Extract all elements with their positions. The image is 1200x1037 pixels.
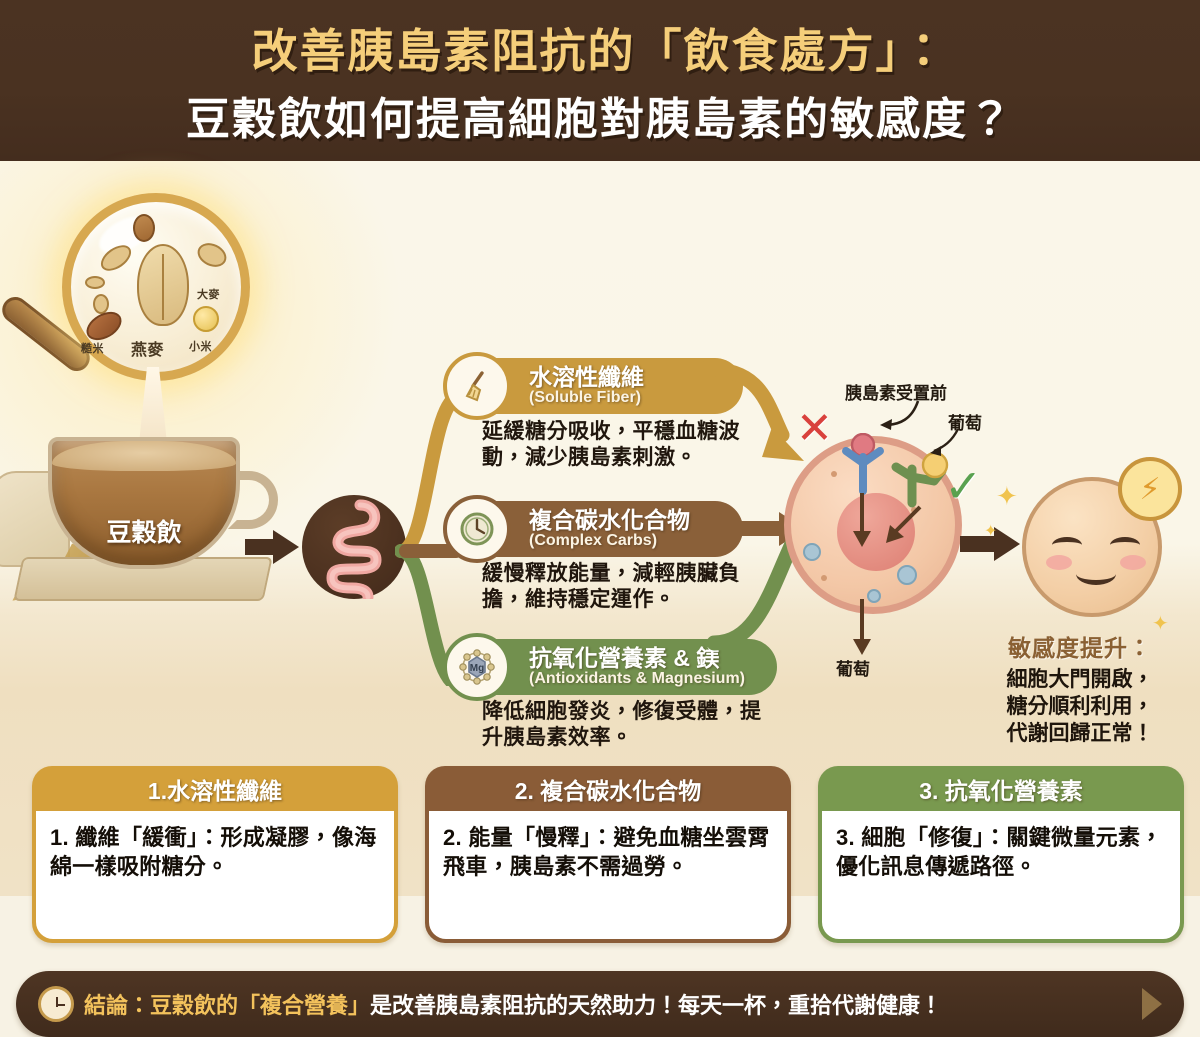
cheek bbox=[1046, 555, 1072, 570]
page-header: 改善胰島素阻抗的「飲食處方」： 豆穀飲如何提高細胞對胰島素的敏感度？ bbox=[0, 0, 1200, 161]
summary-card-antioxidants[interactable]: 3. 抗氧化營養素 3. 細胞「修復」：關鍵微量元素，優化訊息傳遞路徑。 bbox=[818, 766, 1184, 943]
cell-dot bbox=[821, 575, 827, 581]
pathway-title-zh: 水溶性纖維 bbox=[529, 366, 644, 389]
grain-label-oat: 燕麥 bbox=[131, 336, 164, 360]
card-heading: 2. 複合碳水化合物 bbox=[425, 766, 791, 811]
flow-arrow-tail bbox=[245, 539, 273, 555]
conclusion-suffix: 是改善胰島素阻抗的天然助力！每天一杯，重拾代謝健康！ bbox=[370, 993, 942, 1018]
smile bbox=[1076, 563, 1116, 585]
pathway-title-zh: 複合碳水化合物 bbox=[529, 509, 690, 532]
eye bbox=[1052, 537, 1082, 553]
summary-card-fiber[interactable]: 1.水溶性纖維 1. 纖維「緩衝」：形成凝膠，像海綿一樣吸附糖分。 bbox=[32, 766, 398, 943]
result-line-2: 糖分順利利用， bbox=[960, 694, 1200, 721]
allowed-mark-icon: ✓ bbox=[944, 463, 983, 509]
barley-grain-icon bbox=[194, 239, 230, 272]
drink-foam bbox=[52, 441, 236, 471]
pathway-pill-soluble-fiber[interactable]: 水溶性纖維 (Soluble Fiber) bbox=[447, 358, 743, 414]
pathway-pill-complex-carbs[interactable]: 複合碳水化合物 (Complex Carbs) bbox=[447, 501, 743, 557]
conclusion-highlight: 「複合營養」 bbox=[238, 993, 370, 1018]
page-title-line2: 豆穀飲如何提高細胞對胰島素的敏感度？ bbox=[186, 83, 1014, 147]
intestine-icon bbox=[302, 495, 406, 599]
result-line-1: 細胞大門開啟， bbox=[960, 667, 1200, 694]
drink-illustration: 大麥 糙米 燕麥 小米 豆穀飲 bbox=[0, 171, 310, 591]
grain-label-millet: 小米 bbox=[189, 338, 212, 354]
card-body: 2. 能量「慢釋」：避免血糖坐雲霄飛車，胰島素不需過勞。 bbox=[429, 811, 787, 939]
pathway-title-en: (Antioxidants & Magnesium) bbox=[529, 671, 745, 687]
pathway-title-en: (Complex Carbs) bbox=[529, 533, 690, 549]
magnifier-icon: 大麥 糙米 燕麥 小米 bbox=[62, 193, 250, 381]
cheek bbox=[1120, 555, 1146, 570]
summary-cards: 1.水溶性纖維 1. 纖維「緩衝」：形成凝膠，像海綿一樣吸附糖分。 2. 複合碳… bbox=[0, 766, 1200, 956]
card-heading: 3. 抗氧化營養素 bbox=[818, 766, 1184, 811]
oat-grain-icon bbox=[137, 244, 189, 326]
grain-label-brown-rice: 糙米 bbox=[81, 340, 104, 356]
grain-icon bbox=[133, 214, 155, 242]
sparkle-icon: ✦ bbox=[996, 481, 1018, 512]
clock-icon bbox=[443, 495, 511, 563]
lightning-bolt-icon: ⚡ bbox=[1118, 457, 1182, 521]
page-title-line1: 改善胰島素阻抗的「飲食處方」： bbox=[252, 15, 949, 81]
card-body: 3. 細胞「修復」：關鍵微量元素，優化訊息傳遞路徑。 bbox=[822, 811, 1180, 939]
alarm-clock-icon bbox=[38, 986, 74, 1022]
grain-icon bbox=[85, 276, 105, 289]
insulin-receptor-blocked-icon bbox=[836, 433, 890, 499]
eye bbox=[1110, 537, 1140, 553]
conclusion-arrow-icon bbox=[1142, 988, 1162, 1020]
glucose-label-bottom: 葡萄 bbox=[836, 655, 870, 680]
summary-card-carbs[interactable]: 2. 複合碳水化合物 2. 能量「慢釋」：避免血糖坐雲霄飛車，胰島素不需過勞。 bbox=[425, 766, 791, 943]
magnesium-molecule-icon: Mg bbox=[443, 633, 511, 701]
result-line-3: 代謝回歸正常！ bbox=[960, 721, 1200, 748]
conclusion-bar: 結論：豆穀飲的「複合營養」是改善胰島素阻抗的天然助力！每天一杯，重拾代謝健康！ bbox=[16, 971, 1184, 1037]
flow-arrow-cup-to-gut bbox=[273, 530, 299, 564]
millet-grain-icon bbox=[193, 306, 219, 332]
pathway-title-en: (Soluble Fiber) bbox=[529, 390, 644, 406]
conclusion-text: 結論：豆穀飲的「複合營養」是改善胰島素阻抗的天然助力！每天一杯，重拾代謝健康！ bbox=[84, 988, 942, 1020]
cup-label: 豆穀飲 bbox=[52, 513, 236, 549]
result-title: 敏感度提升： bbox=[960, 629, 1200, 663]
sparkle-icon: ✦ bbox=[984, 521, 997, 541]
card-body: 1. 纖維「緩衝」：形成凝膠，像海綿一樣吸附糖分。 bbox=[36, 811, 394, 939]
svg-text:Mg: Mg bbox=[470, 663, 484, 674]
blocked-mark-icon: ✕ bbox=[796, 407, 833, 451]
grain-label-barley: 大麥 bbox=[197, 286, 220, 302]
pathway-desc-antioxidants: 降低細胞發炎，修復受體，提升胰島素效率。 bbox=[482, 699, 782, 751]
result-summary: 敏感度提升： 細胞大門開啟， 糖分順利利用， 代謝回歸正常！ bbox=[960, 629, 1200, 748]
organelle-icon bbox=[803, 543, 821, 561]
conclusion-prefix: 結論：豆穀飲的 bbox=[84, 993, 238, 1018]
card-heading: 1.水溶性纖維 bbox=[32, 766, 398, 811]
infographic-stage: 大麥 糙米 燕麥 小米 豆穀飲 bbox=[0, 161, 1200, 896]
broom-icon bbox=[443, 352, 511, 420]
organelle-icon bbox=[897, 565, 917, 585]
flow-arrow-cell-to-result bbox=[994, 527, 1020, 561]
